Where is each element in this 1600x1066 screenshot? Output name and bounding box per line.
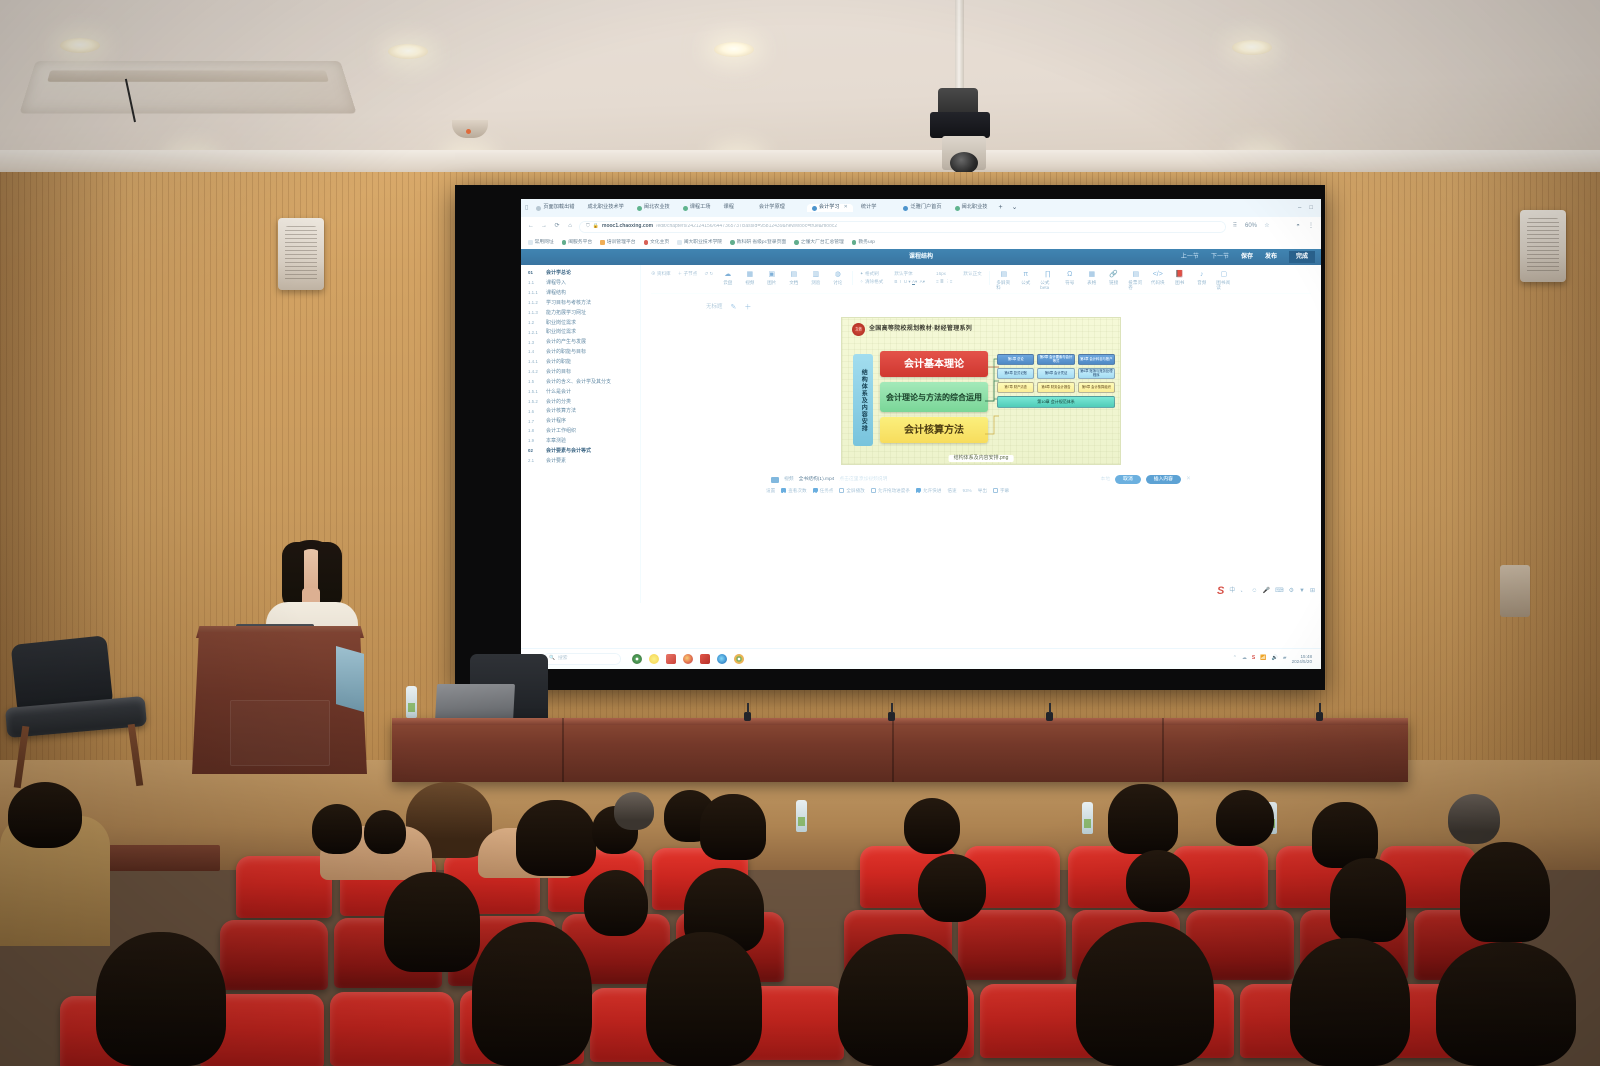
tab-label: 闽北农业技: [644, 205, 670, 211]
sidebar-item[interactable]: 1.4会计的职能与目标: [521, 348, 640, 358]
audience-head: [1216, 790, 1274, 846]
image-icon: ▣: [768, 271, 775, 278]
mic-icon[interactable]: 🎤: [1262, 588, 1269, 595]
close-icon[interactable]: ✕: [844, 205, 848, 211]
system-tray: ⌃ ☁ S 📶 🔊 ▰ 15:48 2024/5/20: [1233, 654, 1315, 665]
battery-icon[interactable]: ▰: [1283, 656, 1287, 662]
quiz-icon: ▥: [812, 271, 819, 278]
chevron-down-icon[interactable]: ⌄: [1009, 204, 1021, 212]
toolbar-document[interactable]: ▤文档: [786, 271, 801, 285]
audience-head: [96, 932, 226, 1066]
seat: [330, 992, 454, 1066]
browser-tab[interactable]: 闽北职业技: [950, 204, 993, 212]
minimize-button[interactable]: –: [1298, 205, 1301, 212]
discussion-icon: ◍: [835, 271, 841, 278]
audience-head: [1460, 842, 1550, 942]
bookmark-item[interactable]: 教务urp: [852, 240, 875, 245]
folder-icon: [528, 240, 533, 245]
font-family-select[interactable]: 默认字体: [894, 271, 925, 276]
checkbox-icon[interactable]: [781, 488, 786, 493]
projected-screen: ▯ 页面加载出错 成北职业技术学 闽北农业技 课程工场 课程 会计学原理 会计学…: [521, 199, 1321, 669]
pencil-icon[interactable]: ✎: [731, 304, 737, 312]
globe-icon: [812, 206, 817, 211]
export-label[interactable]: 导出: [978, 488, 987, 493]
toolbar-book-read[interactable]: ▢图书阅读: [1216, 271, 1231, 290]
wall-speaker-right: [1520, 210, 1566, 282]
chapter-chip: 第8章 财务会计报告: [1037, 382, 1074, 393]
format-brush-button[interactable]: ✦ 格式刷: [860, 271, 884, 276]
audience-head: [1290, 938, 1410, 1066]
tab-label: 会计学习: [819, 205, 840, 211]
seat: [236, 856, 332, 918]
table-icon: ▦: [1088, 271, 1095, 278]
course-structure-diagram[interactable]: 立信 全国高等院校规划教材·财经管理系列 结构体系及内容安排 会计基本理论 会计…: [841, 317, 1121, 465]
next-section-button[interactable]: 下一节: [1211, 254, 1229, 261]
sidebar-item[interactable]: 1.1.3能力拓展学习网址: [521, 309, 640, 319]
diagram-left-label: 结构体系及内容安排: [853, 354, 873, 446]
toolbar-multi-screen[interactable]: ▤多屏资料: [996, 271, 1011, 290]
globe-icon: [637, 206, 642, 211]
code-icon: </>: [1153, 271, 1163, 278]
star-icon[interactable]: ☆: [1263, 223, 1271, 230]
taskbar-search[interactable]: 🔍 搜索: [543, 653, 621, 665]
audience-head: [312, 804, 362, 854]
wps-app-icon[interactable]: [700, 654, 710, 664]
link-icon: 🔗: [1109, 271, 1118, 278]
taskbar-apps: [632, 654, 744, 664]
bookmark-item[interactable]: 文化主页: [644, 240, 670, 245]
sidebar-item[interactable]: 1.7会计程序: [521, 417, 640, 427]
upload-filename: 全书结构(1).mp4: [799, 477, 835, 482]
toolbar-cloud[interactable]: ☁云盘: [720, 271, 735, 285]
diagram-chapter-chips: 第1章 总论 第2章 会计要素与会计等式 第3章 会计科目与账户 第4章 复式记…: [997, 354, 1115, 411]
checkbox-icon[interactable]: [916, 488, 921, 493]
audience-head: [364, 810, 406, 854]
book-read-icon: ▢: [1220, 271, 1227, 278]
sidebar-item[interactable]: 1.2职业岗位需求: [521, 318, 640, 328]
toolbar-survey[interactable]: ▤投票问卷: [1128, 271, 1143, 290]
audience-head: [1076, 922, 1214, 1066]
search-placeholder: 搜索: [558, 656, 568, 661]
url-path: /edit/chapters/242124156/6447365737class…: [656, 224, 837, 230]
align-buttons[interactable]: ≡ ≣ ⋮≡: [936, 279, 952, 284]
sidebar-item[interactable]: 1.1.1课程结构: [521, 289, 640, 299]
wall-speaker-left: [278, 218, 324, 290]
bookmark-item[interactable]: 教科研 省级pc登录页面: [730, 240, 786, 245]
chapter-chip: 第7章 财产清查: [997, 382, 1034, 393]
emoji-icon[interactable]: ☺: [1251, 588, 1257, 595]
editor-content: ⊕ 资料库 ＋ 子节点 ↺ ↻ ☁云盘 ▦视频 ▣图片 ▤文档 ▥测验 ◍讨论 …: [641, 265, 1321, 603]
checkbox-icon[interactable]: [839, 488, 844, 493]
toolbar-table[interactable]: ▦表格: [1084, 271, 1099, 285]
option-allow-seek[interactable]: 允许快进: [916, 488, 941, 493]
puzzle-icon[interactable]: ⠿: [1231, 223, 1239, 230]
option-task-point[interactable]: 任务点: [813, 488, 834, 493]
sidebar-item[interactable]: 1.6会计核算方法: [521, 407, 640, 417]
upload-hint: 点击这里添加视频说明: [839, 477, 887, 482]
browser-tab-active[interactable]: 会计学习✕: [807, 204, 853, 212]
browser-tab[interactable]: 统计学: [856, 204, 882, 212]
cancel-upload-button[interactable]: 取消: [1115, 475, 1141, 484]
sidebar-item[interactable]: 1.4.1会计的职能: [521, 358, 640, 368]
seat: [958, 910, 1066, 980]
globe-icon: [794, 240, 799, 245]
pdf-app-icon[interactable]: [666, 654, 676, 664]
toolbar-discussion[interactable]: ◍讨论: [830, 271, 845, 285]
page-title: 课程结构: [909, 254, 933, 261]
home-icon[interactable]: ⌂: [566, 223, 574, 230]
browser-tab[interactable]: 课程工场: [678, 204, 716, 212]
sidebar-item[interactable]: 1.1课程导入: [521, 279, 640, 289]
audience-head: [1330, 858, 1406, 942]
speed-label: 倍速: [947, 488, 956, 493]
tools-icon[interactable]: ⚙: [1289, 588, 1294, 595]
funnel-icon[interactable]: ▼: [1299, 588, 1305, 595]
sidebar-item[interactable]: 1.5会计的含义、会计学及其分支: [521, 378, 640, 388]
lecture-hall-scene: ▯ 页面加载出错 成北职业技术学 闽北农业技 课程工场 课程 会计学原理 会计学…: [0, 0, 1600, 1066]
formula-icon: π: [1023, 271, 1028, 278]
audience-head: [700, 794, 766, 860]
clock-date: 2024/5/20: [1292, 659, 1312, 664]
bookmark-item[interactable]: 培训管理平台: [600, 240, 635, 245]
sogou-icon: S: [1217, 586, 1224, 597]
globe-icon: [683, 206, 688, 211]
browser-tab[interactable]: 页面加载出错: [531, 204, 579, 212]
url-host: mooc1.chaoxing.com: [602, 224, 653, 230]
stage-laptop: [435, 684, 515, 722]
browser-tab[interactable]: 闽北农业技: [632, 204, 675, 212]
audience-head: [838, 934, 968, 1066]
prev-section-button[interactable]: 上一节: [1181, 254, 1199, 261]
tab-label: 课程: [724, 205, 734, 211]
sidebar-item[interactable]: 1.1.2学习目标与考核方法: [521, 299, 640, 309]
globe-icon: [730, 240, 735, 245]
bookmarks-bar: 常用网址 闽服务平台 培训管理平台 文化主页 闽大职业技术学院 教科研 省级pc…: [521, 236, 1321, 249]
audience-head: [1448, 794, 1500, 844]
audience-head: [516, 800, 596, 876]
sidebar-item[interactable]: 1.8会计工作组织: [521, 427, 640, 437]
browser-tab[interactable]: 课程: [719, 204, 739, 212]
desk-microphone: [1046, 712, 1053, 721]
sidebar-item[interactable]: 1.3会计的产生与发展: [521, 338, 640, 348]
publisher-seal-icon: 立信: [852, 323, 865, 336]
lock-icon: 🔒: [593, 224, 599, 230]
tab-label: 页面加载出错: [543, 205, 574, 211]
course-outline-sidebar[interactable]: 01会计学总论 1.1课程导入 1.1.1课程结构 1.1.2学习目标与考核方法…: [521, 265, 641, 603]
option-allow-drag[interactable]: 允许拖动进度条: [871, 488, 910, 493]
toolbar-symbol[interactable]: Ω符号: [1062, 271, 1077, 285]
sidebar-item[interactable]: 1.2.1职业岗位需求: [521, 328, 640, 338]
audience-head: [614, 792, 654, 830]
search-icon: 🔍: [549, 656, 555, 661]
downlight: [388, 44, 428, 59]
diagram-caption: 结构体系及内容安排.png: [949, 455, 1014, 463]
checkbox-icon[interactable]: [993, 488, 998, 493]
toolbar-image[interactable]: ▣图片: [764, 271, 779, 285]
wifi-icon[interactable]: 📶: [1260, 656, 1266, 662]
desk-microphone: [744, 712, 751, 721]
video-file-icon: [771, 477, 779, 483]
downlight: [1232, 40, 1272, 55]
sidebar-item-chapter[interactable]: 01会计学总论: [521, 269, 640, 279]
done-button[interactable]: 完成: [1289, 251, 1315, 264]
browser-tab[interactable]: 泛雅门户首页: [898, 204, 946, 212]
save-button[interactable]: 保存: [1241, 254, 1253, 261]
cloud-icon[interactable]: ☁: [1242, 656, 1247, 662]
toolbar-formula-beta[interactable]: ∏公式beta: [1040, 271, 1055, 290]
tab-label: 统计学: [861, 205, 877, 211]
forward-icon[interactable]: →: [540, 223, 548, 230]
tab-list-icon[interactable]: ▯: [525, 205, 528, 212]
diagram-main-boxes: 会计基本理论 会计理论与方法的综合运用 会计核算方法: [880, 351, 988, 448]
plus-icon[interactable]: ＋: [744, 304, 751, 312]
local-source-label[interactable]: 本地: [1101, 477, 1111, 482]
bookmark-item[interactable]: 闽大职业技术学院: [677, 240, 722, 245]
arch-icon: [600, 240, 605, 245]
audience-seating: [0, 772, 1600, 1066]
audience-head: [8, 782, 82, 848]
edge-app-icon[interactable]: [717, 654, 727, 664]
chip-row: 第1章 总论 第2章 会计要素与会计等式 第3章 会计科目与账户: [997, 354, 1115, 365]
font-size-select[interactable]: 16px: [936, 271, 952, 276]
audience-head: [646, 932, 762, 1066]
audience-head: [472, 922, 592, 1066]
toolbar-quiz[interactable]: ▥测验: [808, 271, 823, 285]
audience-head: [584, 870, 648, 936]
side-chair: [6, 640, 166, 790]
audience-head: [1126, 850, 1190, 912]
toolbar-link[interactable]: 🔗链接: [1106, 271, 1121, 285]
audience-head: [1108, 784, 1178, 854]
address-bar[interactable]: ⛉ 🔒 mooc1.chaoxing.com /edit/chapters/24…: [579, 221, 1226, 233]
presenter-hair-right: [318, 542, 342, 608]
option-view-count[interactable]: 查看次数: [781, 488, 806, 493]
diagram-banner: 立信 全国高等院校规划教材·财经管理系列: [842, 318, 1120, 336]
sidebar-item[interactable]: 1.9本章测验: [521, 437, 640, 447]
sun-app-icon[interactable]: [649, 654, 659, 664]
back-icon[interactable]: ←: [527, 223, 535, 230]
toolbar-book[interactable]: 📕图书: [1172, 271, 1187, 285]
tab-label: 闽北职业技: [962, 205, 988, 211]
firefox-app-icon[interactable]: [683, 654, 693, 664]
desk-microphone: [888, 712, 895, 721]
chip-row: 第10章 会计规范体系: [997, 396, 1115, 408]
chevron-up-icon[interactable]: ⌃: [1233, 656, 1237, 662]
bold-italic-underline[interactable]: B I U ▾ A▾ A▾: [894, 279, 925, 284]
paragraph-style-select[interactable]: 默认正文: [963, 271, 981, 276]
audience-head: [384, 872, 480, 972]
tab-label: 课程工场: [690, 205, 711, 211]
sogou-icon[interactable]: S: [1252, 656, 1255, 662]
ime-mode[interactable]: 中: [1229, 588, 1235, 595]
chapter-chip: 第4章 复式记账: [997, 368, 1034, 379]
chrome-app-icon[interactable]: [632, 654, 642, 664]
option-subtitle[interactable]: 字幕: [993, 488, 1009, 493]
tab-label: 成北职业技术学: [587, 205, 623, 211]
sub-section-label[interactable]: ＋ 子节点: [678, 271, 698, 276]
clock-time: 15:48: [1301, 654, 1313, 659]
sidebar-item[interactable]: 1.5.2会计的分类: [521, 397, 640, 407]
browser-tab[interactable]: 会计学原理: [754, 204, 790, 212]
globe-icon: [955, 206, 960, 211]
checkbox-icon[interactable]: [871, 488, 876, 493]
comma-icon[interactable]: 、: [1240, 588, 1246, 595]
browser-tabstrip: ▯ 页面加载出错 成北职业技术学 闽北农业技 课程工场 课程 会计学原理 会计学…: [521, 199, 1321, 217]
downlight: [60, 38, 100, 53]
options-label: 设置: [766, 488, 775, 493]
projector-mount-pole: [955, 0, 964, 95]
window-controls: – □: [1298, 205, 1317, 212]
toolbar-divider: [852, 271, 853, 285]
chapter-chip: 第6章 账簿与账务处理程序: [1078, 368, 1115, 379]
chapter-chip: 第3章 会计科目与账户: [1078, 354, 1115, 365]
windows-taskbar: 🔍 搜索 ⌃ ☁ S 📶 🔊 ▰ 15:48: [521, 648, 1321, 669]
account-icon[interactable]: ◓: [1294, 223, 1302, 230]
audience-head: [1436, 942, 1576, 1066]
audience-head: [904, 798, 960, 854]
audio-icon: ♪: [1200, 271, 1204, 278]
water-bottle: [406, 686, 417, 718]
publish-button[interactable]: 发布: [1265, 254, 1277, 261]
taskbar-clock[interactable]: 15:48 2024/5/20: [1292, 654, 1312, 665]
bookmark-item[interactable]: 之懂大厂台汇总管理: [794, 240, 844, 245]
browser-navbar: ← → ⟳ ⌂ ⛉ 🔒 mooc1.chaoxing.com /edit/cha…: [521, 217, 1321, 236]
sidebar-item[interactable]: 2.1会计要素: [521, 457, 640, 467]
globe-icon: [903, 206, 908, 211]
chip-row: 第7章 财产清查 第8章 财务会计报告 第9章 会计核算组织: [997, 382, 1115, 393]
header-actions: 上一节 下一节 保存 发布 完成: [1181, 251, 1321, 264]
zoom-level[interactable]: 60%: [1244, 223, 1258, 230]
info-icon: [536, 206, 541, 211]
dot-icon: [644, 240, 649, 245]
section-title-label: 无标题: [706, 304, 723, 310]
desk-microphone: [1316, 712, 1323, 721]
folder-icon: [677, 240, 682, 245]
upload-prefix: 视频: [784, 477, 794, 482]
ceiling-ac-vent: [19, 61, 356, 114]
volume-icon[interactable]: 🔊: [1271, 656, 1277, 662]
more-icon[interactable]: ⊞: [1310, 588, 1315, 595]
video-icon: ▦: [746, 271, 753, 278]
podium-side-banner: [336, 646, 364, 712]
checkbox-icon[interactable]: [813, 488, 818, 493]
diagram-box-theory: 会计基本理论: [880, 351, 988, 377]
podium-front-panel: [230, 700, 330, 766]
projector-lens-icon: [950, 152, 978, 174]
sidebar-item[interactable]: 1.5.1什么是会计: [521, 388, 640, 398]
globe-icon: [562, 240, 567, 245]
tab-label: 泛雅门户首页: [910, 205, 941, 211]
formula-beta-icon: ∏: [1045, 271, 1051, 278]
downlight: [714, 42, 754, 57]
book-icon: 📕: [1175, 271, 1184, 278]
chapter-chip: 第10章 会计规范体系: [997, 396, 1115, 408]
clear-format-button[interactable]: ✧ 清除格式: [860, 279, 884, 284]
maximize-button[interactable]: □: [1309, 205, 1313, 212]
cloud-icon: ☁: [724, 271, 731, 278]
multi-screen-icon: ▤: [1000, 271, 1007, 278]
bookmark-item[interactable]: 常用网址: [528, 240, 554, 245]
seat: [220, 920, 328, 990]
video-options-row: 设置 查看次数 任务点 全屏播放 允许拖动进度条 允许快进 倍速 93% 导出 …: [766, 488, 1196, 493]
diagram-box-method: 会计核算方法: [880, 417, 988, 443]
chrome2-app-icon[interactable]: [734, 654, 744, 664]
toolbar-audio[interactable]: ♪音频: [1194, 271, 1209, 285]
wall-panel: [1500, 565, 1530, 617]
insert-content-button[interactable]: 插入内容: [1146, 475, 1181, 484]
toolbar-divider: [989, 271, 990, 285]
presenter-hair-left: [282, 542, 304, 606]
diagram-box-application: 会计理论与方法的综合运用: [880, 382, 988, 412]
shield-icon: ⛉: [586, 224, 590, 230]
chapter-chip: 第2章 会计要素与会计等式: [1037, 354, 1074, 365]
toolbar-code[interactable]: </>代码块: [1150, 271, 1165, 285]
projector-body: [930, 112, 990, 138]
video-upload-row: 视频 全书结构(1).mp4 点击这里添加视频说明 本地 取消 插入内容 ✕: [771, 475, 1191, 484]
diagram-banner-text: 全国高等院校规划教材·财经管理系列: [869, 326, 972, 333]
browser-tab[interactable]: 成北职业技术学: [582, 204, 628, 212]
editor-toolbar-primary: ⊕ 资料库 ＋ 子节点 ↺ ↻ ☁云盘 ▦视频 ▣图片 ▤文档 ▥测验 ◍讨论 …: [651, 271, 1311, 294]
chapter-chip: 第1章 总论: [997, 354, 1034, 365]
speed-value[interactable]: 93%: [963, 488, 972, 493]
new-tab-button[interactable]: +: [995, 204, 1005, 212]
chapter-chip: 第5章 会计凭证: [1037, 368, 1074, 379]
tab-label: 会计学原理: [759, 205, 785, 211]
ime-toolbar[interactable]: S 中 、 ☺ 🎤 ⌨ ⚙ ▼ ⊞: [1217, 586, 1315, 597]
chip-row: 第4章 复式记账 第5章 会计凭证 第6章 账簿与账务处理程序: [997, 368, 1115, 379]
toolbar-video[interactable]: ▦视频: [742, 271, 757, 285]
survey-icon: ▤: [1132, 271, 1139, 278]
menu-icon[interactable]: ⋮: [1307, 223, 1315, 230]
sidebar-item[interactable]: 1.4.2会计的目标: [521, 368, 640, 378]
close-icon[interactable]: ✕: [1186, 476, 1191, 483]
bookmark-item[interactable]: 闽服务平台: [562, 240, 593, 245]
editor-body: 01会计学总论 1.1课程导入 1.1.1课程结构 1.1.2学习目标与考核方法…: [521, 265, 1321, 603]
globe-icon: [852, 240, 857, 245]
chapter-chip: 第9章 会计核算组织: [1078, 382, 1115, 393]
audience-head: [918, 854, 986, 922]
omega-icon: Ω: [1067, 271, 1072, 278]
document-icon: ▤: [790, 271, 797, 278]
option-fullscreen[interactable]: 全屏播放: [839, 488, 864, 493]
undo-redo-label[interactable]: ↺ ↻: [704, 271, 713, 276]
section-title-row: 无标题 ✎ ＋: [706, 304, 1311, 312]
keyboard-icon[interactable]: ⌨: [1275, 588, 1284, 595]
insert-resource-label[interactable]: ⊕ 资料库: [651, 271, 671, 276]
reload-icon[interactable]: ⟳: [553, 223, 561, 230]
sidebar-item-chapter[interactable]: 02会计要素与会计等式: [521, 447, 640, 457]
toolbar-formula[interactable]: π公式: [1018, 271, 1033, 285]
app-header: 课程结构 上一节 下一节 保存 发布 完成: [521, 249, 1321, 265]
